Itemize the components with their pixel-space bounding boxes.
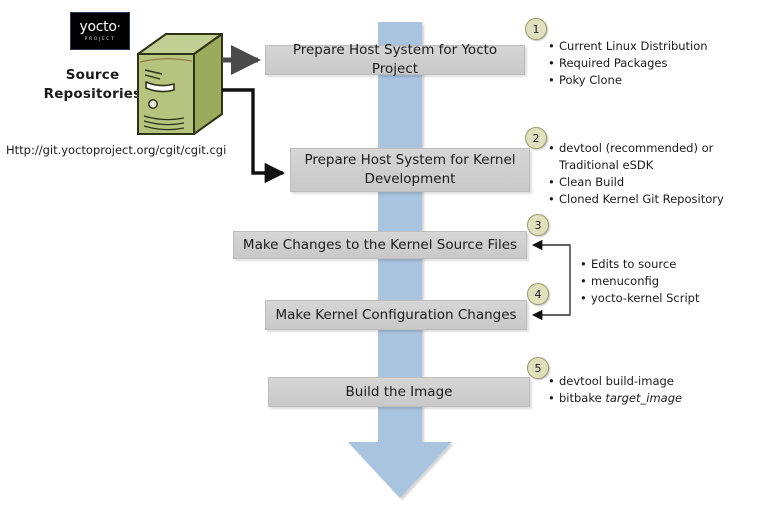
process-box-label: Prepare Host System for Yocto Project [274, 41, 516, 79]
step-number: 1 [533, 23, 540, 36]
note-item: yocto-kernel Script [580, 290, 760, 307]
note-item: menuconfig [580, 273, 760, 290]
notes-list: devtool (recommended) or Traditional eSD… [548, 140, 763, 208]
note-item: Clean Build [548, 174, 763, 191]
note-item: Poky Clone [548, 72, 763, 89]
arrow-server-to-step2 [222, 90, 283, 173]
step-number: 2 [533, 132, 540, 145]
step-number-circle-2: 2 [525, 127, 547, 149]
step-number: 4 [535, 288, 542, 301]
notes-step-5: devtool build-image bitbake target_image [548, 373, 763, 407]
process-box-label: Prepare Host System for Kernel Developme… [299, 151, 521, 189]
note-item: devtool (recommended) or Traditional eSD… [548, 140, 763, 174]
process-box-step-3[interactable]: Make Changes to the Kernel Source Files [233, 231, 527, 259]
process-box-label: Build the Image [346, 383, 453, 402]
process-box-step-1[interactable]: Prepare Host System for Yocto Project [265, 45, 525, 75]
note-bitbake-prefix: bitbake [559, 391, 605, 405]
notes-steps-3-and-4: Edits to source menuconfig yocto-kernel … [580, 256, 760, 307]
note-item: Edits to source [580, 256, 760, 273]
note-item: devtool build-image [548, 373, 763, 390]
process-box-step-5[interactable]: Build the Image [268, 377, 530, 407]
notes-step-2: devtool (recommended) or Traditional eSD… [548, 140, 763, 208]
step-number-circle-3: 3 [527, 214, 549, 236]
process-box-step-4[interactable]: Make Kernel Configuration Changes [265, 300, 527, 330]
step-number-circle-1: 1 [525, 18, 547, 40]
note-item: Cloned Kernel Git Repository [548, 191, 763, 208]
process-box-step-2[interactable]: Prepare Host System for Kernel Developme… [290, 148, 530, 192]
note-italic-term: target_image [605, 391, 682, 405]
note-item: Required Packages [548, 55, 763, 72]
notes-step-1: Current Linux Distribution Required Pack… [548, 38, 763, 89]
diagram-canvas: yocto· PROJECT Source Repositories Http:… [0, 0, 769, 517]
step-number-circle-4: 4 [527, 283, 549, 305]
notes-list: Edits to source menuconfig yocto-kernel … [580, 256, 760, 307]
process-box-label: Make Changes to the Kernel Source Files [243, 236, 517, 255]
notes-list: devtool build-image bitbake target_image [548, 373, 763, 407]
note-item: Current Linux Distribution [548, 38, 763, 55]
step-number: 3 [535, 219, 542, 232]
process-box-label: Make Kernel Configuration Changes [275, 306, 516, 325]
note-item-bitbake: bitbake target_image [548, 390, 763, 407]
step-number-circle-5: 5 [527, 357, 549, 379]
notes-list: Current Linux Distribution Required Pack… [548, 38, 763, 89]
step-number: 5 [535, 362, 542, 375]
